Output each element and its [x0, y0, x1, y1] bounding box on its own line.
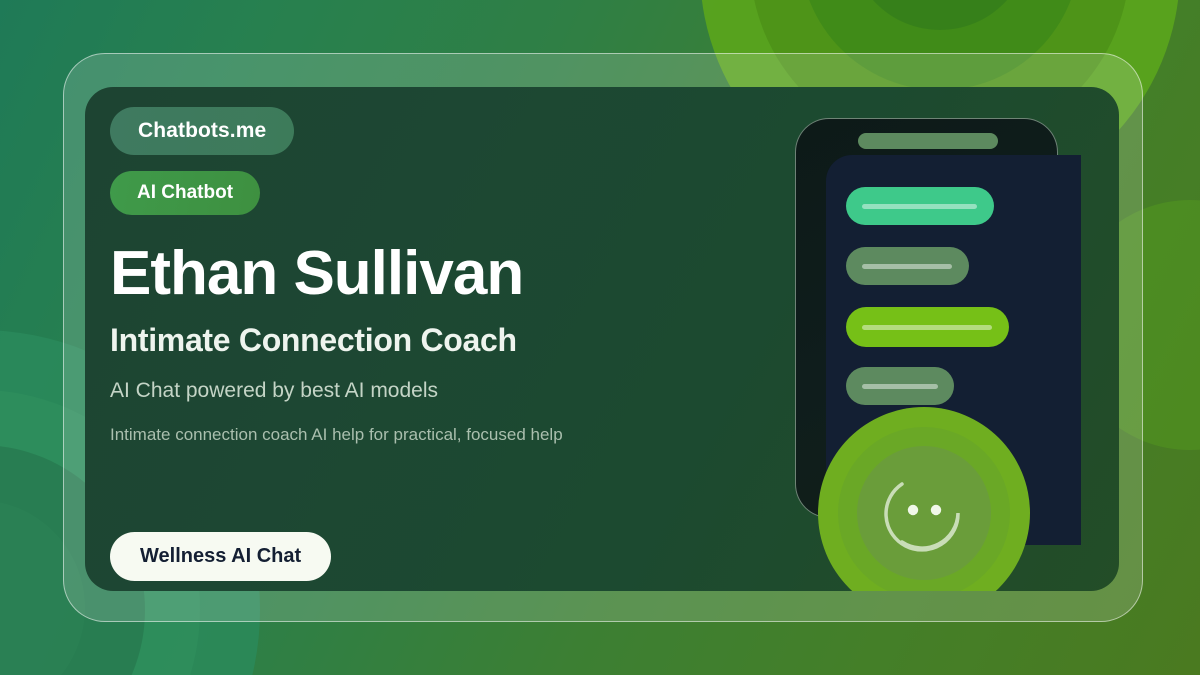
description-text: Intimate connection coach AI help for pr…	[110, 425, 770, 445]
footer-badge[interactable]: Wellness AI Chat	[110, 532, 331, 581]
card-content: Chatbots.me AI Chatbot Ethan Sullivan In…	[110, 107, 770, 445]
chat-bubble-3	[846, 307, 1009, 347]
page-subtitle: Intimate Connection Coach	[110, 322, 770, 359]
tagline-text: AI Chat powered by best AI models	[110, 379, 770, 403]
chat-bubble-text-placeholder	[862, 264, 952, 269]
chat-bubble-2	[846, 247, 969, 285]
chat-bubble-text-placeholder	[862, 384, 938, 389]
brand-badge[interactable]: Chatbots.me	[110, 107, 294, 155]
smiley-face-icon	[872, 461, 976, 565]
chat-bubble-1	[846, 187, 994, 225]
phone-status-bar	[858, 133, 998, 149]
page-title: Ethan Sullivan	[110, 241, 770, 306]
promo-card: Chatbots.me AI Chatbot Ethan Sullivan In…	[85, 87, 1119, 591]
chat-bubble-text-placeholder	[862, 204, 977, 209]
category-badge[interactable]: AI Chatbot	[110, 171, 260, 215]
chat-bubble-4	[846, 367, 954, 405]
chat-bubble-text-placeholder	[862, 325, 992, 330]
